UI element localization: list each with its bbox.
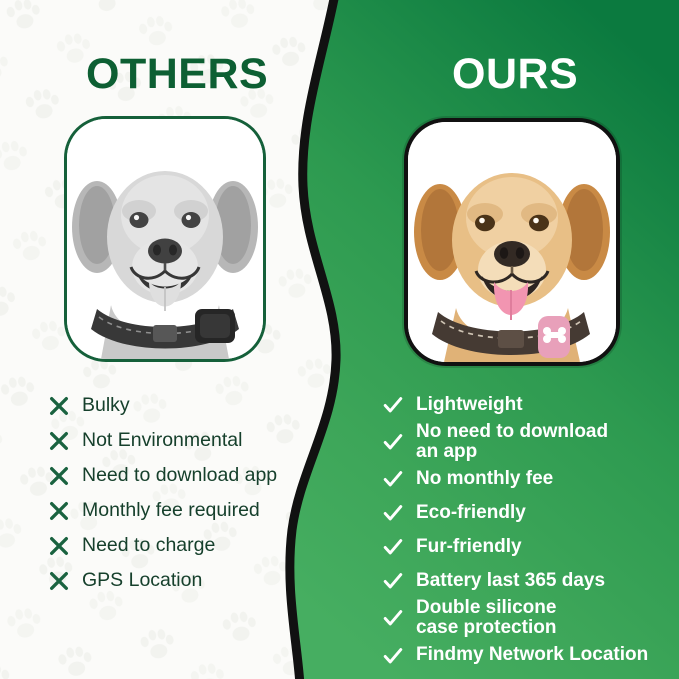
- page-title-others: OTHERS: [86, 50, 268, 99]
- list-item: Monthly fee required: [48, 493, 318, 528]
- list-item-label: Double silicone case protection: [416, 598, 556, 638]
- x-mark-icon: [48, 430, 70, 452]
- list-item: Need to download app: [48, 458, 318, 493]
- pink-bone-tag: [538, 316, 570, 358]
- list-item-label: No monthly fee: [416, 469, 553, 489]
- check-mark-icon: [382, 394, 404, 416]
- list-item-label: Need to charge: [82, 535, 215, 556]
- check-mark-icon: [382, 502, 404, 524]
- list-item-label: Findmy Network Location: [416, 645, 648, 665]
- list-item-label: Battery last 365 days: [416, 571, 605, 591]
- list-item-label: No need to download an app: [416, 422, 608, 462]
- list-item: Findmy Network Location: [382, 639, 672, 673]
- page-title-ours: OURS: [452, 50, 578, 99]
- list-item-label: Lightweight: [416, 395, 523, 415]
- check-mark-icon: [382, 468, 404, 490]
- list-item-label: Monthly fee required: [82, 500, 260, 521]
- check-mark-icon: [382, 645, 404, 667]
- feature-list-others: Bulky Not Environmental Need to download…: [48, 388, 318, 598]
- feature-list-ours: Lightweight No need to download an app N…: [382, 388, 672, 673]
- list-item-label: Bulky: [82, 395, 130, 416]
- list-item: No monthly fee: [382, 462, 672, 496]
- list-item: Lightweight: [382, 388, 672, 422]
- x-mark-icon: [48, 395, 70, 417]
- x-mark-icon: [48, 570, 70, 592]
- dog-photo-grayscale: [67, 119, 263, 359]
- comparison-graphic: OTHERS OURS: [0, 0, 679, 679]
- check-mark-icon: [382, 536, 404, 558]
- list-item: Not Environmental: [48, 423, 318, 458]
- list-item: No need to download an app: [382, 422, 672, 462]
- check-mark-icon: [382, 431, 404, 453]
- list-item-label: Not Environmental: [82, 430, 242, 451]
- list-item: Bulky: [48, 388, 318, 423]
- x-mark-icon: [48, 535, 70, 557]
- x-mark-icon: [48, 500, 70, 522]
- list-item-label: Fur-friendly: [416, 537, 522, 557]
- photo-others: [64, 116, 266, 362]
- dog-photo-color: [408, 122, 616, 362]
- list-item-label: Eco-friendly: [416, 503, 526, 523]
- photo-ours: [404, 118, 620, 366]
- list-item: Double silicone case protection: [382, 598, 672, 638]
- x-mark-icon: [48, 465, 70, 487]
- list-item: Need to charge: [48, 528, 318, 563]
- list-item: Eco-friendly: [382, 496, 672, 530]
- list-item-label: GPS Location: [82, 570, 202, 591]
- list-item: Fur-friendly: [382, 530, 672, 564]
- list-item: GPS Location: [48, 563, 318, 598]
- list-item: Battery last 365 days: [382, 564, 672, 598]
- list-item-label: Need to download app: [82, 465, 277, 486]
- check-mark-icon: [382, 607, 404, 629]
- check-mark-icon: [382, 570, 404, 592]
